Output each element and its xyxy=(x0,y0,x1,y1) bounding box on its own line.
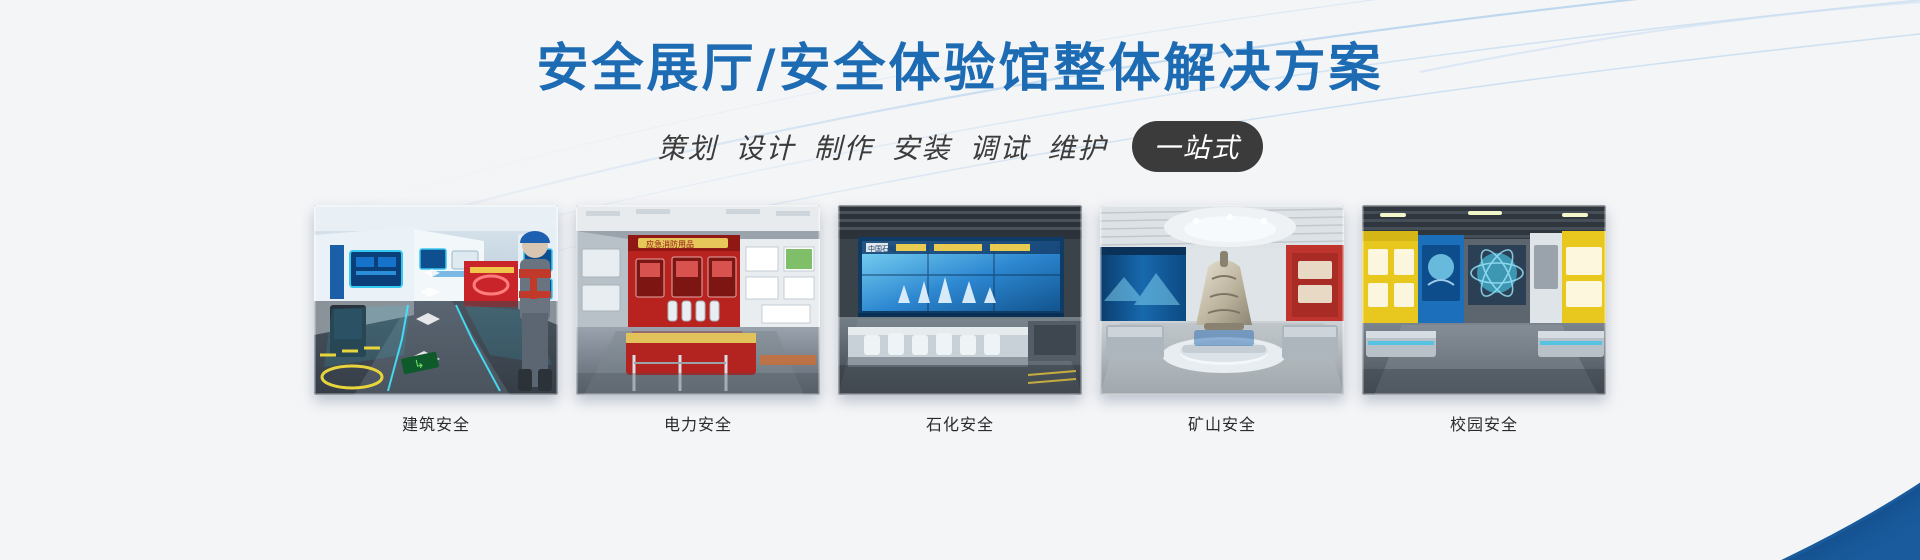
service-steps: 策划 设计 制作 安装 调试 维护 一站式 xyxy=(0,121,1920,172)
mining-safety-thumbnail[interactable] xyxy=(1100,205,1344,395)
petrochemical-safety-thumbnail[interactable]: 中国石化 xyxy=(838,205,1082,395)
service-step-3: 安装 xyxy=(892,127,952,167)
service-step-1: 设计 xyxy=(735,127,795,167)
service-step-2: 制作 xyxy=(813,127,873,167)
showcase-card[interactable]: 校园安全 xyxy=(1362,205,1606,435)
page-title: 安全展厅/安全体验馆整体解决方案 xyxy=(0,26,1920,101)
promo-banner: 安全展厅/安全体验馆整体解决方案 策划 设计 制作 安装 调试 维护 一站式 xyxy=(0,0,1920,560)
showcase-card[interactable]: 矿山安全 xyxy=(1100,205,1344,435)
campus-safety-thumbnail[interactable] xyxy=(1362,205,1606,395)
card-caption: 建筑安全 xyxy=(314,411,558,435)
card-caption: 电力安全 xyxy=(576,411,820,435)
svg-text:中国石化: 中国石化 xyxy=(868,244,896,253)
service-step-5: 维护 xyxy=(1048,127,1108,167)
service-step-0: 策划 xyxy=(657,127,717,167)
power-safety-thumbnail[interactable]: 应急消防用品 xyxy=(576,205,820,395)
service-step-4: 调试 xyxy=(970,127,1030,167)
one-stop-badge: 一站式 xyxy=(1132,121,1263,172)
construction-safety-thumbnail[interactable]: ↳ xyxy=(314,205,558,395)
showcase-card[interactable]: 中国石化 xyxy=(838,205,1082,435)
svg-text:应急消防用品: 应急消防用品 xyxy=(646,239,694,249)
card-caption: 校园安全 xyxy=(1362,411,1606,435)
card-caption: 石化安全 xyxy=(838,411,1082,435)
card-caption: 矿山安全 xyxy=(1100,411,1344,435)
showcase-card[interactable]: 应急消防用品 xyxy=(576,205,820,435)
showcase-card-list: ↳ xyxy=(0,205,1920,435)
showcase-card[interactable]: ↳ xyxy=(314,205,558,435)
